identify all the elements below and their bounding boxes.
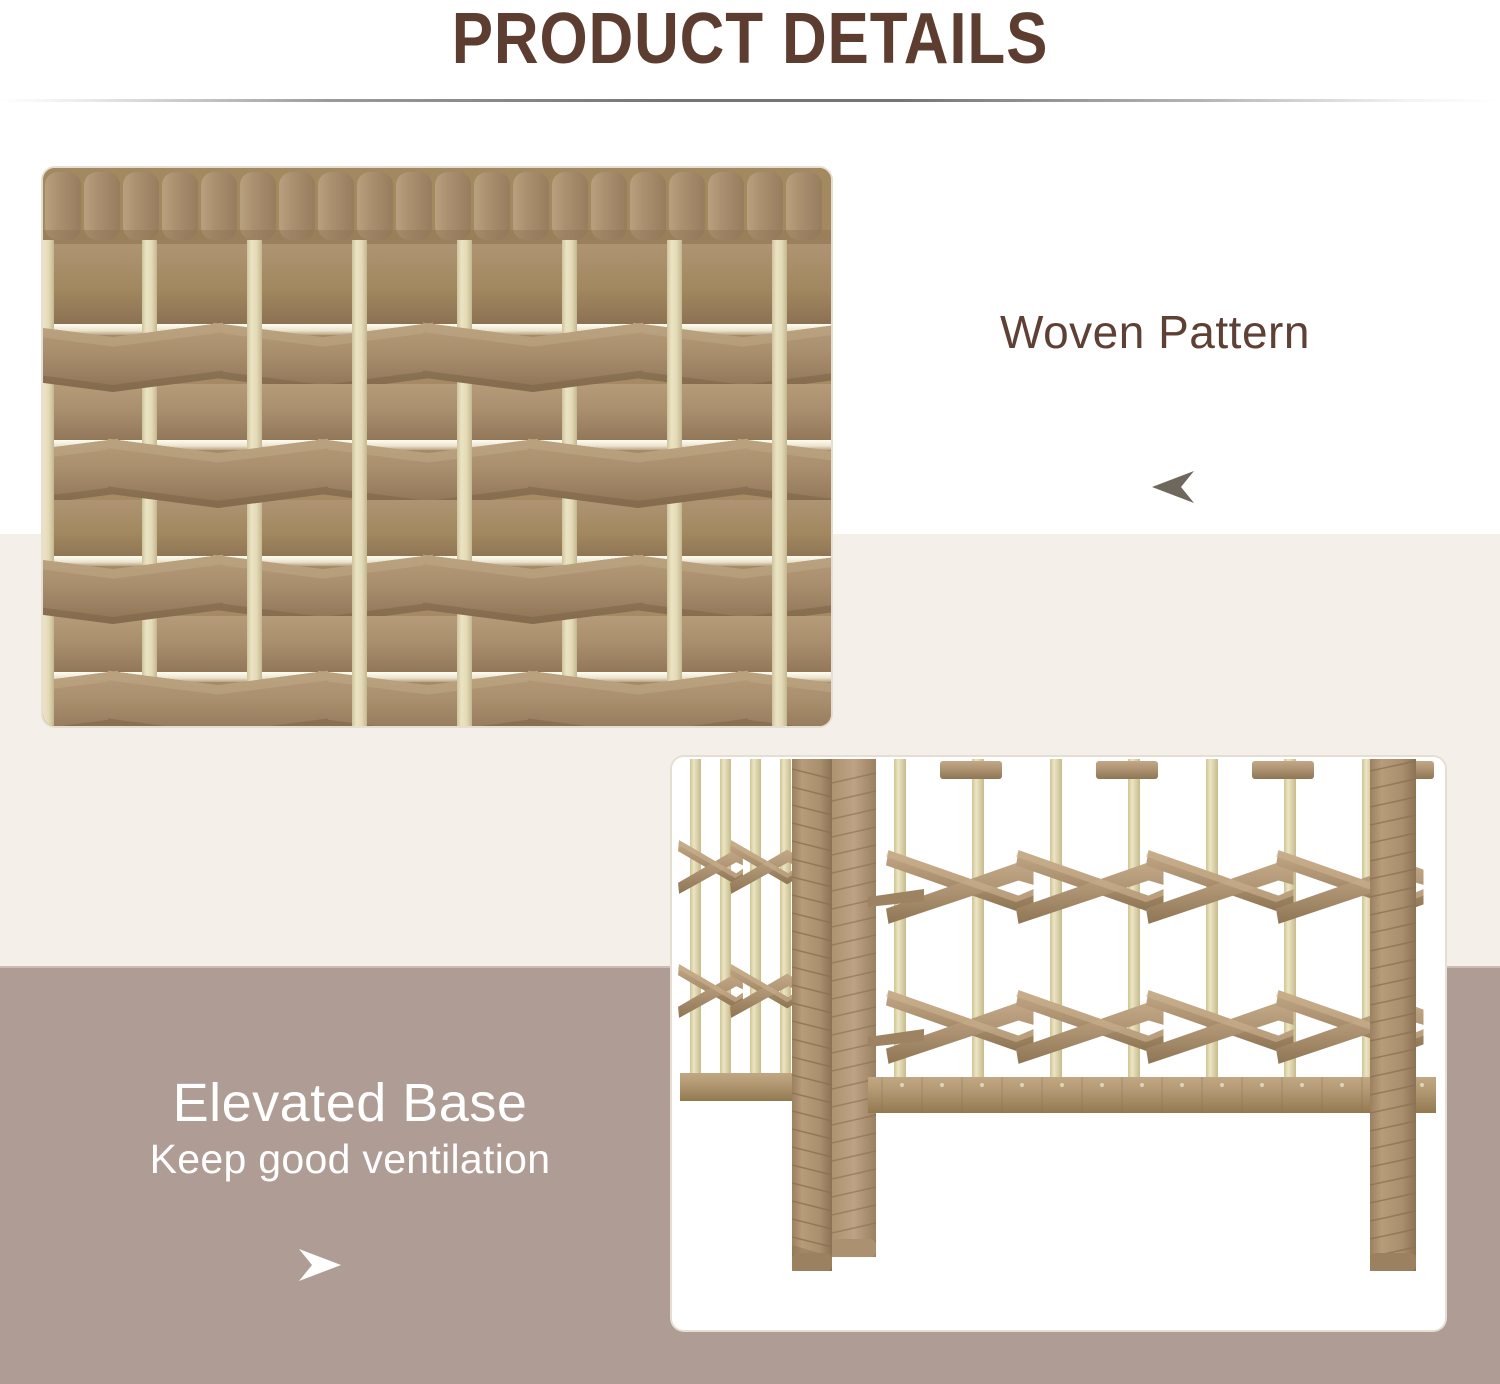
elevated-base-image	[672, 757, 1445, 1330]
furniture-corner-leg	[792, 759, 876, 1271]
woven-rattan-illustration	[43, 168, 831, 726]
title-divider	[0, 99, 1500, 102]
furniture-frame-illustration	[672, 757, 1445, 1330]
elevated-base-label: Elevated Base	[0, 1072, 700, 1134]
woven-top-slat-band	[43, 168, 831, 244]
arrow-right-icon	[295, 1248, 343, 1282]
woven-pattern-image	[43, 168, 831, 726]
page-title: PRODUCT DETAILS	[105, 0, 1395, 78]
furniture-right-leg	[1370, 759, 1416, 1271]
header: PRODUCT DETAILS	[0, 0, 1500, 110]
woven-pattern-label: Woven Pattern	[1000, 305, 1420, 359]
arrow-left-icon	[1150, 470, 1198, 504]
elevated-base-sublabel: Keep good ventilation	[0, 1136, 700, 1183]
